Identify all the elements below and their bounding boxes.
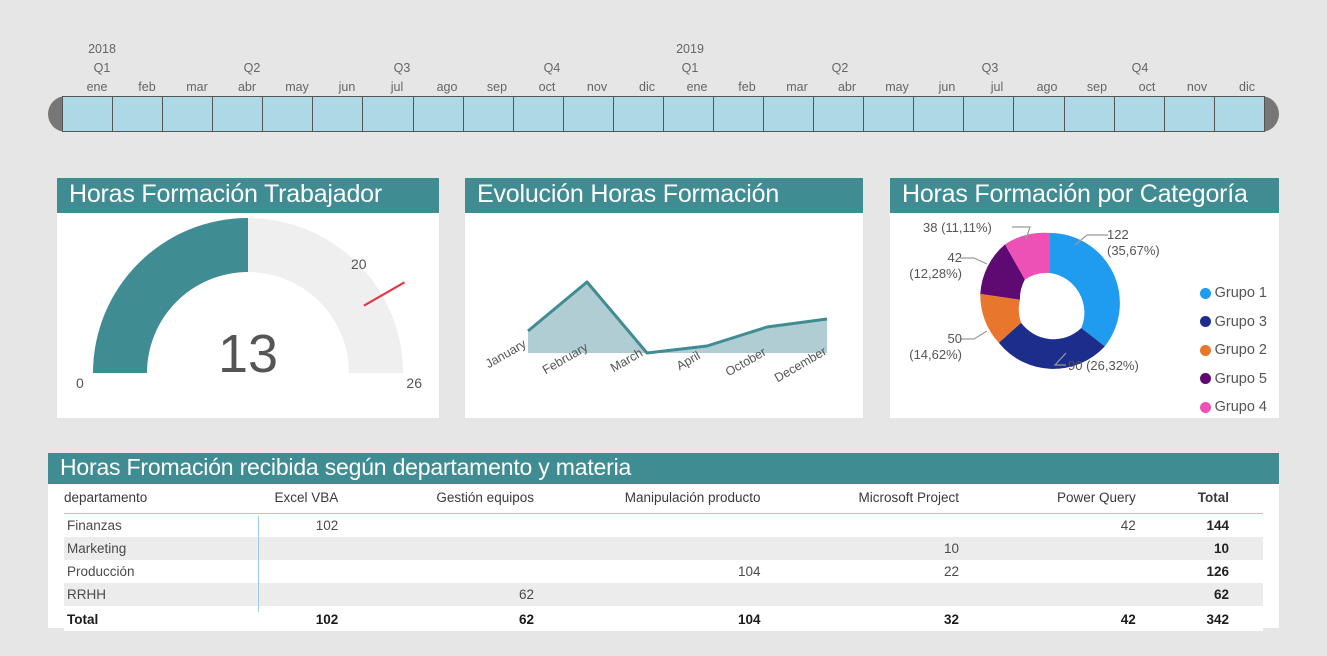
matrix-cell-value — [823, 583, 1022, 606]
timeline-month-21: oct — [1122, 80, 1172, 94]
matrix-cell-value: 42 — [1021, 513, 1198, 537]
matrix-total-value: 104 — [596, 606, 823, 631]
matrix-total-value: 102 — [229, 606, 401, 631]
donut-leader-grupo-2 — [960, 331, 987, 339]
matrix-cell-value — [229, 583, 401, 606]
timeline-cell[interactable] — [764, 96, 814, 132]
matrix-total-value: 62 — [400, 606, 596, 631]
matrix-header-row: departamento Excel VBA Gestión equipos M… — [64, 484, 1263, 514]
matrix-cell-value: 22 — [823, 560, 1022, 583]
timeline-cell[interactable] — [363, 96, 413, 132]
timeline-cell[interactable] — [263, 96, 313, 132]
table-row[interactable]: Finanzas 102 42 144 — [64, 513, 1263, 537]
area-chart-title: Evolución Horas Formación — [465, 178, 863, 213]
timeline-quarter-2018-q4: Q4 — [522, 61, 582, 75]
timeline-quarter-2019-q4: Q4 — [1110, 61, 1170, 75]
matrix-col-departamento[interactable]: departamento — [64, 484, 229, 514]
matrix-cell-value — [596, 513, 823, 537]
timeline-month-16: may — [872, 80, 922, 94]
timeline-month-6: jul — [372, 80, 422, 94]
donut-datalabel-grupo-3: 90 (26,32%) — [1068, 358, 1139, 374]
matrix-cell-dept: Finanzas — [64, 513, 229, 537]
timeline-quarter-2018-q3: Q3 — [372, 61, 432, 75]
report-canvas: 2018 2019 Q1 Q2 Q3 Q4 Q1 Q2 Q3 Q4 ene fe… — [0, 0, 1327, 656]
legend-item-grupo-5[interactable]: Grupo 5 — [1200, 371, 1267, 387]
timeline-month-14: mar — [772, 80, 822, 94]
timeline-month-9: oct — [522, 80, 572, 94]
timeline-month-1: feb — [122, 80, 172, 94]
matrix-col-excel-vba[interactable]: Excel VBA — [229, 484, 401, 514]
gauge-max-label: 26 — [406, 375, 422, 391]
matrix-col-total[interactable]: Total — [1198, 484, 1263, 514]
timeline-month-10: nov — [572, 80, 622, 94]
timeline-cell[interactable] — [964, 96, 1014, 132]
date-timeline-slicer[interactable]: 2018 2019 Q1 Q2 Q3 Q4 Q1 Q2 Q3 Q4 ene fe… — [48, 30, 1279, 140]
legend-dot-icon — [1200, 402, 1211, 413]
timeline-quarter-2019-q1: Q1 — [660, 61, 720, 75]
legend-label: Grupo 2 — [1215, 342, 1267, 358]
timeline-cell[interactable] — [414, 96, 464, 132]
donut-datalabel-grupo-1: 122 (35,67%) — [1107, 227, 1160, 260]
donut-legend: Grupo 1 Grupo 3 Grupo 2 Grupo 5 Grupo 4 — [1200, 285, 1267, 428]
matrix-cell-value: 62 — [400, 583, 596, 606]
gauge-min-label: 0 — [76, 375, 84, 391]
timeline-month-15: abr — [822, 80, 872, 94]
area-chart-svg — [465, 213, 863, 409]
matrix-column-separator — [258, 516, 259, 612]
legend-dot-icon — [1200, 373, 1211, 384]
legend-item-grupo-1[interactable]: Grupo 1 — [1200, 285, 1267, 301]
timeline-cell[interactable] — [1215, 96, 1265, 132]
matrix-cell-value — [229, 537, 401, 560]
timeline-cell[interactable] — [914, 96, 964, 132]
donut-datalabel-grupo-4: 38 (11,11%) — [923, 220, 992, 236]
donut-title: Horas Formación por Categoría — [890, 178, 1279, 213]
matrix-cell-value — [400, 560, 596, 583]
legend-item-grupo-4[interactable]: Grupo 4 — [1200, 399, 1267, 415]
matrix-col-power-query[interactable]: Power Query — [1021, 484, 1198, 514]
matrix-cell-dept: Marketing — [64, 537, 229, 560]
timeline-quarter-2018-q2: Q2 — [222, 61, 282, 75]
matrix-table-card[interactable]: Horas Fromación recibida según departame… — [48, 453, 1279, 628]
timeline-cell[interactable] — [1065, 96, 1115, 132]
timeline-cell[interactable] — [313, 96, 363, 132]
gauge-body: 13 0 26 20 — [57, 213, 439, 409]
timeline-month-7: ago — [422, 80, 472, 94]
timeline-month-17: jun — [922, 80, 972, 94]
timeline-cell[interactable] — [1014, 96, 1064, 132]
matrix-total-label: Total — [64, 606, 229, 631]
timeline-cell[interactable] — [113, 96, 163, 132]
timeline-month-13: feb — [722, 80, 772, 94]
timeline-cell[interactable] — [514, 96, 564, 132]
gauge-target-label: 20 — [351, 256, 367, 272]
matrix-body-rows: Finanzas 102 42 144 Marketing 10 — [64, 513, 1263, 631]
matrix-total-value: 32 — [823, 606, 1022, 631]
timeline-cell[interactable] — [62, 96, 113, 132]
timeline-labels: 2018 2019 Q1 Q2 Q3 Q4 Q1 Q2 Q3 Q4 ene fe… — [48, 30, 1279, 94]
matrix-cell-value — [400, 513, 596, 537]
donut-datalabel-grupo-2: 50 (14,62%) — [904, 331, 962, 364]
timeline-cell[interactable] — [564, 96, 614, 132]
timeline-month-11: dic — [622, 80, 672, 94]
matrix-cell-total: 126 — [1198, 560, 1263, 583]
timeline-cell[interactable] — [163, 96, 213, 132]
donut-body: 122 (35,67%) 90 (26,32%) 50 (14,62%) 42 … — [890, 213, 1279, 409]
matrix-total-value: 42 — [1021, 606, 1198, 631]
matrix-col-gestion-equipos[interactable]: Gestión equipos — [400, 484, 596, 514]
matrix-col-manipulacion-producto[interactable]: Manipulación producto — [596, 484, 823, 514]
gauge-title: Horas Formación Trabajador — [57, 178, 439, 213]
timeline-cell[interactable] — [213, 96, 263, 132]
donut-datalabel-grupo-5: 42 (12,28%) — [898, 250, 962, 283]
matrix-cell-value — [596, 537, 823, 560]
matrix-cell-value — [229, 560, 401, 583]
legend-dot-icon — [1200, 288, 1211, 299]
matrix-table[interactable]: departamento Excel VBA Gestión equipos M… — [64, 484, 1263, 631]
matrix-header: departamento Excel VBA Gestión equipos M… — [64, 484, 1263, 514]
timeline-month-18: jul — [972, 80, 1022, 94]
timeline-cell[interactable] — [714, 96, 764, 132]
legend-item-grupo-3[interactable]: Grupo 3 — [1200, 314, 1267, 330]
matrix-cell-value — [1021, 537, 1198, 560]
gauge-visual: 13 0 26 20 — [57, 213, 439, 409]
timeline-month-22: nov — [1172, 80, 1222, 94]
timeline-cell[interactable] — [864, 96, 914, 132]
timeline-month-2: mar — [172, 80, 222, 94]
matrix-cell-value — [400, 537, 596, 560]
gauge-card[interactable]: Horas Formación Trabajador 13 0 26 20 — [57, 178, 439, 418]
legend-label: Grupo 1 — [1215, 285, 1267, 301]
timeline-cell[interactable] — [614, 96, 664, 132]
donut-leader-grupo-5 — [960, 258, 987, 264]
matrix-cell-value — [1021, 560, 1198, 583]
matrix-cell-total: 10 — [1198, 537, 1263, 560]
timeline-cell[interactable] — [664, 96, 714, 132]
matrix-title: Horas Fromación recibida según departame… — [48, 453, 1279, 484]
matrix-cell-total: 62 — [1198, 583, 1263, 606]
matrix-cell-dept: RRHH — [64, 583, 229, 606]
timeline-quarter-2018-q1: Q1 — [72, 61, 132, 75]
table-row[interactable]: Producción 104 22 126 — [64, 560, 1263, 583]
timeline-cell[interactable] — [814, 96, 864, 132]
table-row[interactable]: Marketing 10 10 — [64, 537, 1263, 560]
timeline-cell[interactable] — [1115, 96, 1165, 132]
gauge-value: 13 — [57, 323, 439, 385]
timeline-month-19: ago — [1022, 80, 1072, 94]
timeline-month-4: may — [272, 80, 322, 94]
table-row[interactable]: RRHH 62 62 — [64, 583, 1263, 606]
legend-dot-icon — [1200, 345, 1211, 356]
timeline-month-3: abr — [222, 80, 272, 94]
matrix-cell-value: 104 — [596, 560, 823, 583]
area-chart-card[interactable]: Evolución Horas Formación January Februa… — [465, 178, 863, 418]
matrix-total-row[interactable]: Total 102 62 104 32 42 342 — [64, 606, 1263, 631]
timeline-cell[interactable] — [464, 96, 514, 132]
matrix-cell-value — [823, 513, 1022, 537]
legend-label: Grupo 3 — [1215, 314, 1267, 330]
area-chart-body: January February March April October Dec… — [465, 213, 863, 409]
timeline-year-2019: 2019 — [660, 42, 720, 56]
legend-dot-icon — [1200, 316, 1211, 327]
timeline-cells[interactable] — [62, 96, 1265, 132]
matrix-cell-value: 10 — [823, 537, 1022, 560]
matrix-cell-value: 102 — [229, 513, 401, 537]
matrix-body: departamento Excel VBA Gestión equipos M… — [48, 484, 1279, 631]
legend-label: Grupo 5 — [1215, 371, 1267, 387]
legend-item-grupo-2[interactable]: Grupo 2 — [1200, 342, 1267, 358]
timeline-month-8: sep — [472, 80, 522, 94]
timeline-track[interactable] — [48, 96, 1279, 132]
timeline-month-5: jun — [322, 80, 372, 94]
timeline-month-12: ene — [672, 80, 722, 94]
timeline-cell[interactable] — [1165, 96, 1215, 132]
timeline-month-23: dic — [1222, 80, 1272, 94]
donut-chart-card[interactable]: Horas Formación por Categoría — [890, 178, 1279, 418]
timeline-quarter-2019-q2: Q2 — [810, 61, 870, 75]
timeline-month-0: ene — [72, 80, 122, 94]
timeline-month-20: sep — [1072, 80, 1122, 94]
matrix-col-microsoft-project[interactable]: Microsoft Project — [823, 484, 1022, 514]
matrix-cell-dept: Producción — [64, 560, 229, 583]
matrix-cell-value — [1021, 583, 1198, 606]
matrix-cell-value — [596, 583, 823, 606]
matrix-grand-total: 342 — [1198, 606, 1263, 631]
timeline-quarter-2019-q3: Q3 — [960, 61, 1020, 75]
legend-label: Grupo 4 — [1215, 399, 1267, 415]
timeline-year-2018: 2018 — [72, 42, 132, 56]
matrix-cell-total: 144 — [1198, 513, 1263, 537]
